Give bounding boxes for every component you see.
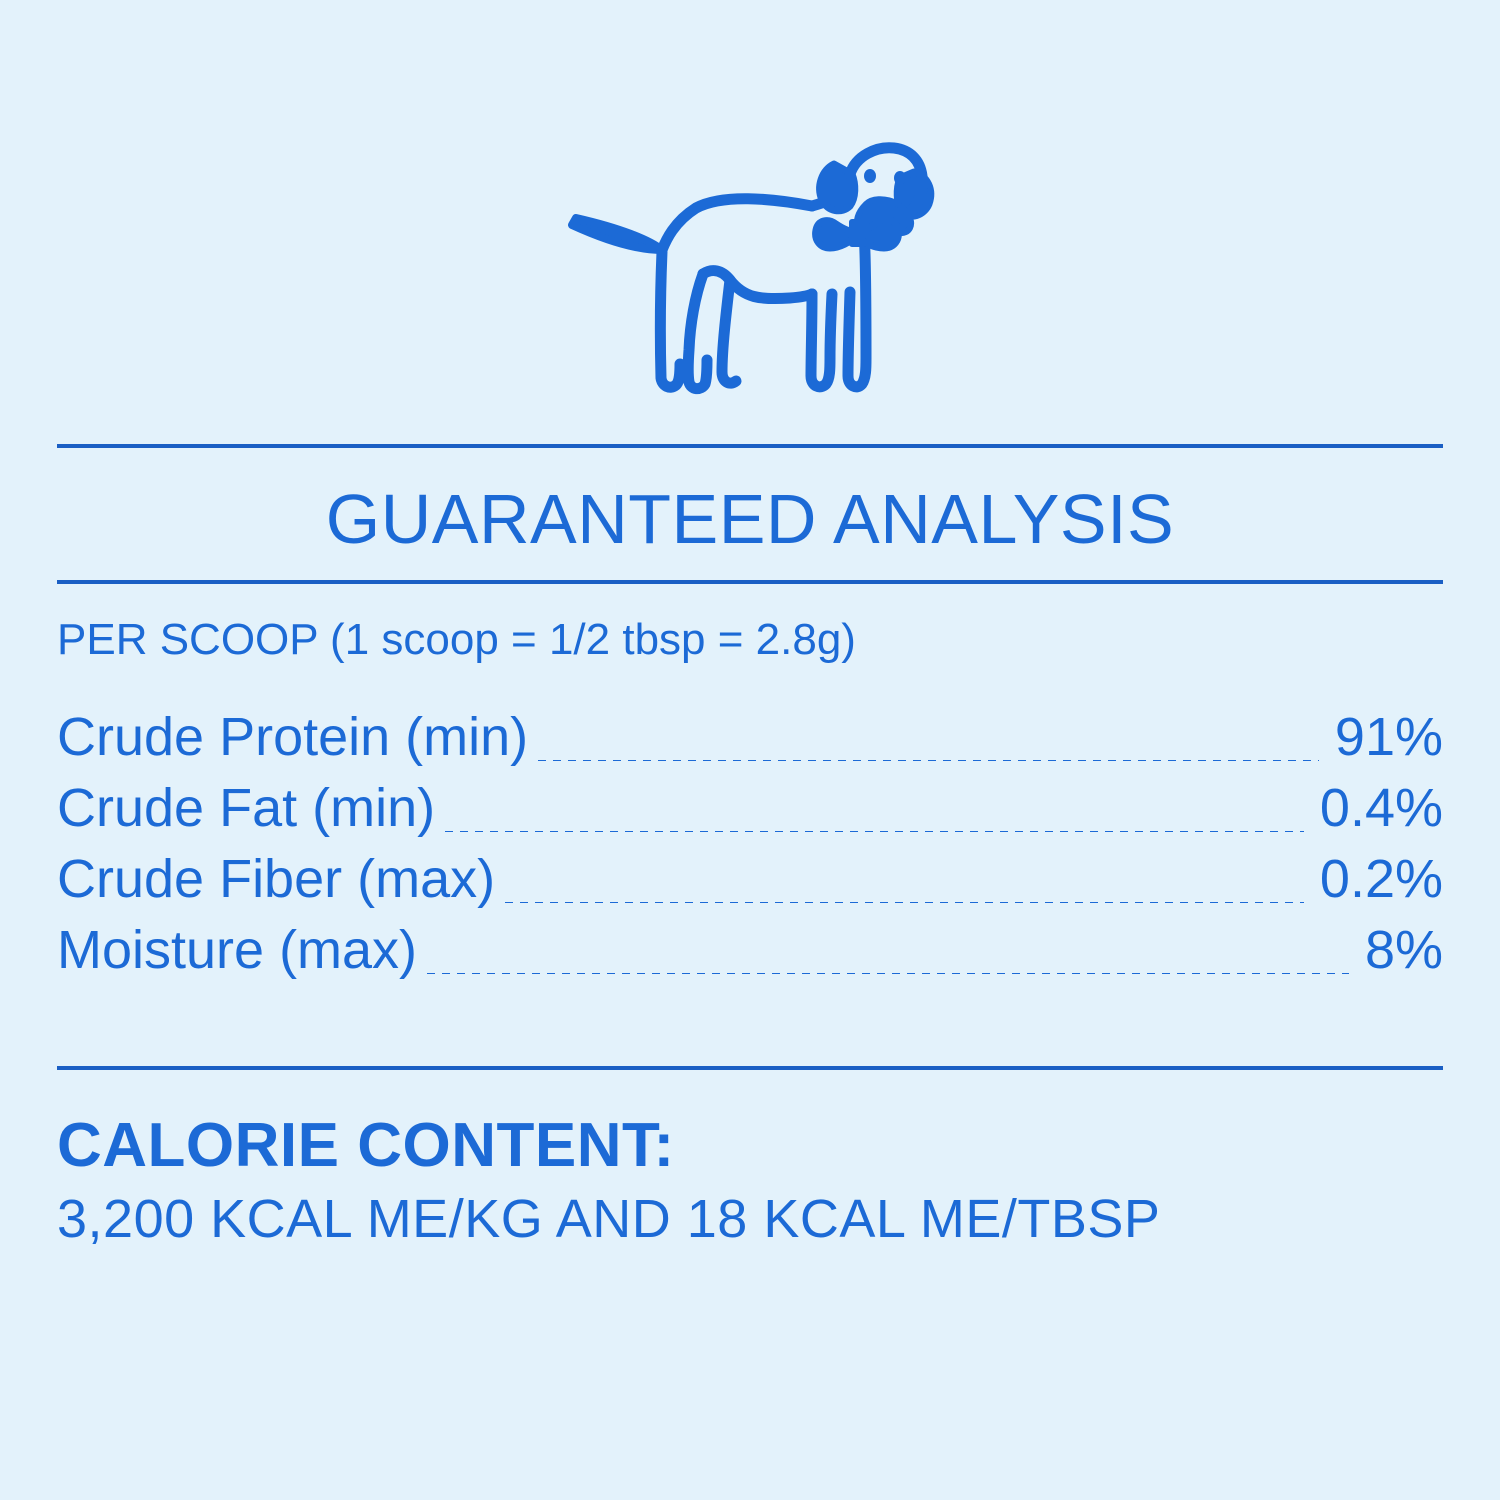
divider-above-calories [57,1066,1443,1070]
nutrient-value: 0.2% [1304,844,1443,915]
nutrient-label: Crude Protein (min) [57,702,538,773]
dog-with-bowtie-icon [0,128,1500,418]
table-row: Crude Protein (min) 91% [57,702,1443,773]
nutrient-label: Crude Fat (min) [57,773,445,844]
divider-under-title [57,580,1443,584]
divider-top [57,444,1443,448]
page-title: GUARANTEED ANALYSIS [57,480,1443,558]
analysis-table: Crude Protein (min) 91% Crude Fat (min) … [57,702,1443,986]
calorie-content-detail: 3,200 KCAL ME/KG AND 18 KCAL ME/TBSP [57,1184,1443,1254]
table-row: Moisture (max) 8% [57,915,1443,986]
guaranteed-analysis-label: GUARANTEED ANALYSIS PER SCOOP (1 scoop =… [0,0,1500,1500]
dot-leader [445,831,1304,832]
dot-leader [427,973,1349,974]
dot-leader [505,902,1304,903]
nutrient-label: Moisture (max) [57,915,427,986]
nutrient-value: 91% [1319,702,1443,773]
calorie-content-section: CALORIE CONTENT: 3,200 KCAL ME/KG AND 18… [57,1108,1443,1254]
serving-size-note: PER SCOOP (1 scoop = 1/2 tbsp = 2.8g) [57,612,856,668]
table-row: Crude Fat (min) 0.4% [57,773,1443,844]
table-row: Crude Fiber (max) 0.2% [57,844,1443,915]
nutrient-label: Crude Fiber (max) [57,844,505,915]
nutrient-value: 0.4% [1304,773,1443,844]
calorie-content-heading: CALORIE CONTENT: [57,1108,1443,1184]
nutrient-value: 8% [1349,915,1443,986]
dot-leader [538,760,1319,761]
